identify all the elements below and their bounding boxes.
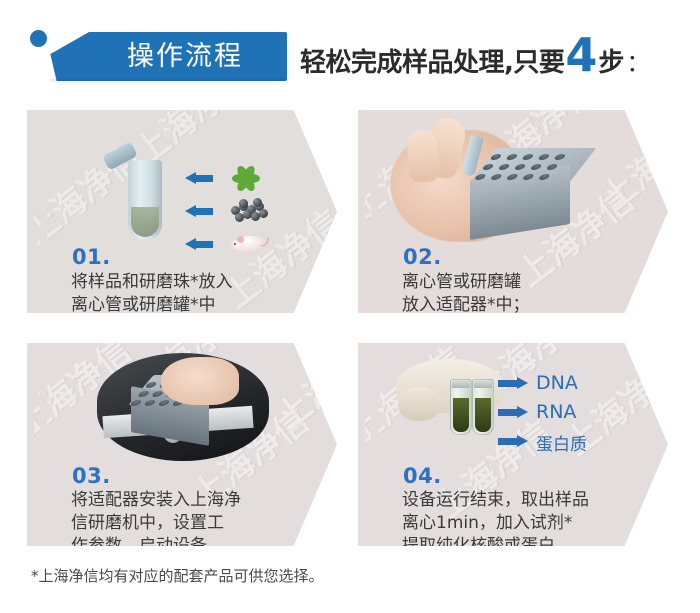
adapter-hole <box>150 391 164 397</box>
right-arrow-icon <box>498 435 528 448</box>
card-accent-bar <box>40 110 47 313</box>
section-tag-shadow <box>50 79 286 83</box>
glove-thumb <box>398 387 442 421</box>
vial-liquid <box>453 398 469 432</box>
card-accent-bar <box>371 343 378 546</box>
adapter-hole <box>545 164 559 170</box>
bullet-dot-icon <box>30 30 47 47</box>
grinding-beads-icon <box>229 198 269 224</box>
right-arrow-icon <box>498 406 528 419</box>
section-tag-label: 操作流程 <box>90 38 280 76</box>
mouse-ear <box>237 236 244 243</box>
finger <box>406 129 440 183</box>
adapter-hole <box>521 174 535 180</box>
card-accent-bar <box>27 110 34 313</box>
page-title-part1: 轻松完成样品处理,只要 <box>300 42 564 79</box>
adapter-hole <box>143 400 157 406</box>
output-label-dna: DNA <box>536 372 578 394</box>
adapter-photo <box>382 112 612 242</box>
grinder-photo <box>89 349 274 464</box>
page-title: 轻松完成样品处理,只要 4 步 ： <box>300 36 650 88</box>
adapter-hole <box>157 400 171 406</box>
right-arrow-icon <box>498 377 528 390</box>
card-accent-bar <box>40 343 47 546</box>
mouse-tail <box>259 237 271 247</box>
step-text-01: 将样品和研磨珠*放入 离心管或研磨罐*中 <box>71 271 233 313</box>
card-accent-bar <box>371 110 378 313</box>
card-accent-bar <box>27 343 34 546</box>
adapter-hole <box>489 174 503 180</box>
step-text-04: 设备运行结束，取出样品 离心1min，加入试剂* 提取纯化核酸或蛋白 <box>402 489 589 546</box>
adapter-hole <box>505 174 519 180</box>
card-accent-bar <box>358 110 365 313</box>
page-title-step-count: 4 <box>565 36 597 75</box>
step-number-03: 03. <box>72 464 111 488</box>
left-arrow-icon <box>185 172 213 185</box>
tube-liquid <box>131 207 159 237</box>
adapter-hole <box>481 164 495 170</box>
sample-vial-icon <box>472 379 494 435</box>
mouse-icon <box>230 232 270 256</box>
leaf-icon <box>232 163 266 193</box>
card-accent-bar <box>358 343 365 546</box>
step-card-03: 上海净信 上海净信 上海净信 上海净信 <box>27 343 337 546</box>
header: 操作流程 轻松完成样品处理,只要 4 步 ： <box>0 0 700 100</box>
page-title-part2: 步 <box>598 42 624 79</box>
adapter-hole <box>144 382 158 388</box>
sample-vial-icon <box>450 379 472 435</box>
step-number-01: 01. <box>72 245 111 269</box>
adapter-hole <box>136 391 150 397</box>
step-card-02: 上海净信 上海净信 上海净信 上海净信 <box>358 110 668 313</box>
hand-icon <box>161 357 239 405</box>
output-label-rna: RNA <box>536 401 576 423</box>
adapter-hole <box>513 164 527 170</box>
adapter-hole <box>489 154 503 160</box>
adapter-hole <box>505 154 519 160</box>
adapter-hole <box>529 164 543 170</box>
left-arrow-icon <box>185 238 213 251</box>
left-arrow-icon <box>185 205 213 218</box>
adapter-hole <box>473 174 487 180</box>
mouse-eye <box>234 243 236 245</box>
vial-liquid <box>475 398 491 432</box>
step-text-02: 离心管或研磨罐 放入适配器*中； <box>402 271 530 313</box>
step-card-01: 上海净信 上海净信 上海净信 <box>27 110 337 313</box>
footer-note: *上海净信均有对应的配套产品可供您选择。 <box>31 565 324 586</box>
output-label-protein: 蛋白质 <box>536 430 587 455</box>
adapter-hole <box>553 154 567 160</box>
adapter-hole <box>129 400 143 406</box>
vial-cap <box>452 380 470 388</box>
process-flow-infographic: 操作流程 轻松完成样品处理,只要 4 步 ： 上海净信 上海净信 上海净信 <box>0 0 700 613</box>
adapter-hole <box>537 174 551 180</box>
page-title-colon: ： <box>626 43 650 78</box>
step-card-04: 上海净信 上海净信 上海净信 上海净信 DNA RNA <box>358 343 668 546</box>
adapter-hole <box>497 164 511 170</box>
vial-cap <box>474 380 492 388</box>
adapter-hole <box>521 154 535 160</box>
vials-photo <box>394 355 524 441</box>
step-number-04: 04. <box>403 464 442 488</box>
adapter-hole <box>537 154 551 160</box>
centrifuge-tube-icon <box>128 160 162 240</box>
step-number-02: 02. <box>403 245 442 269</box>
step-text-03: 将适配器安装入上海净 信研磨机中，设置工 作参数，启动设备 <box>71 489 241 546</box>
